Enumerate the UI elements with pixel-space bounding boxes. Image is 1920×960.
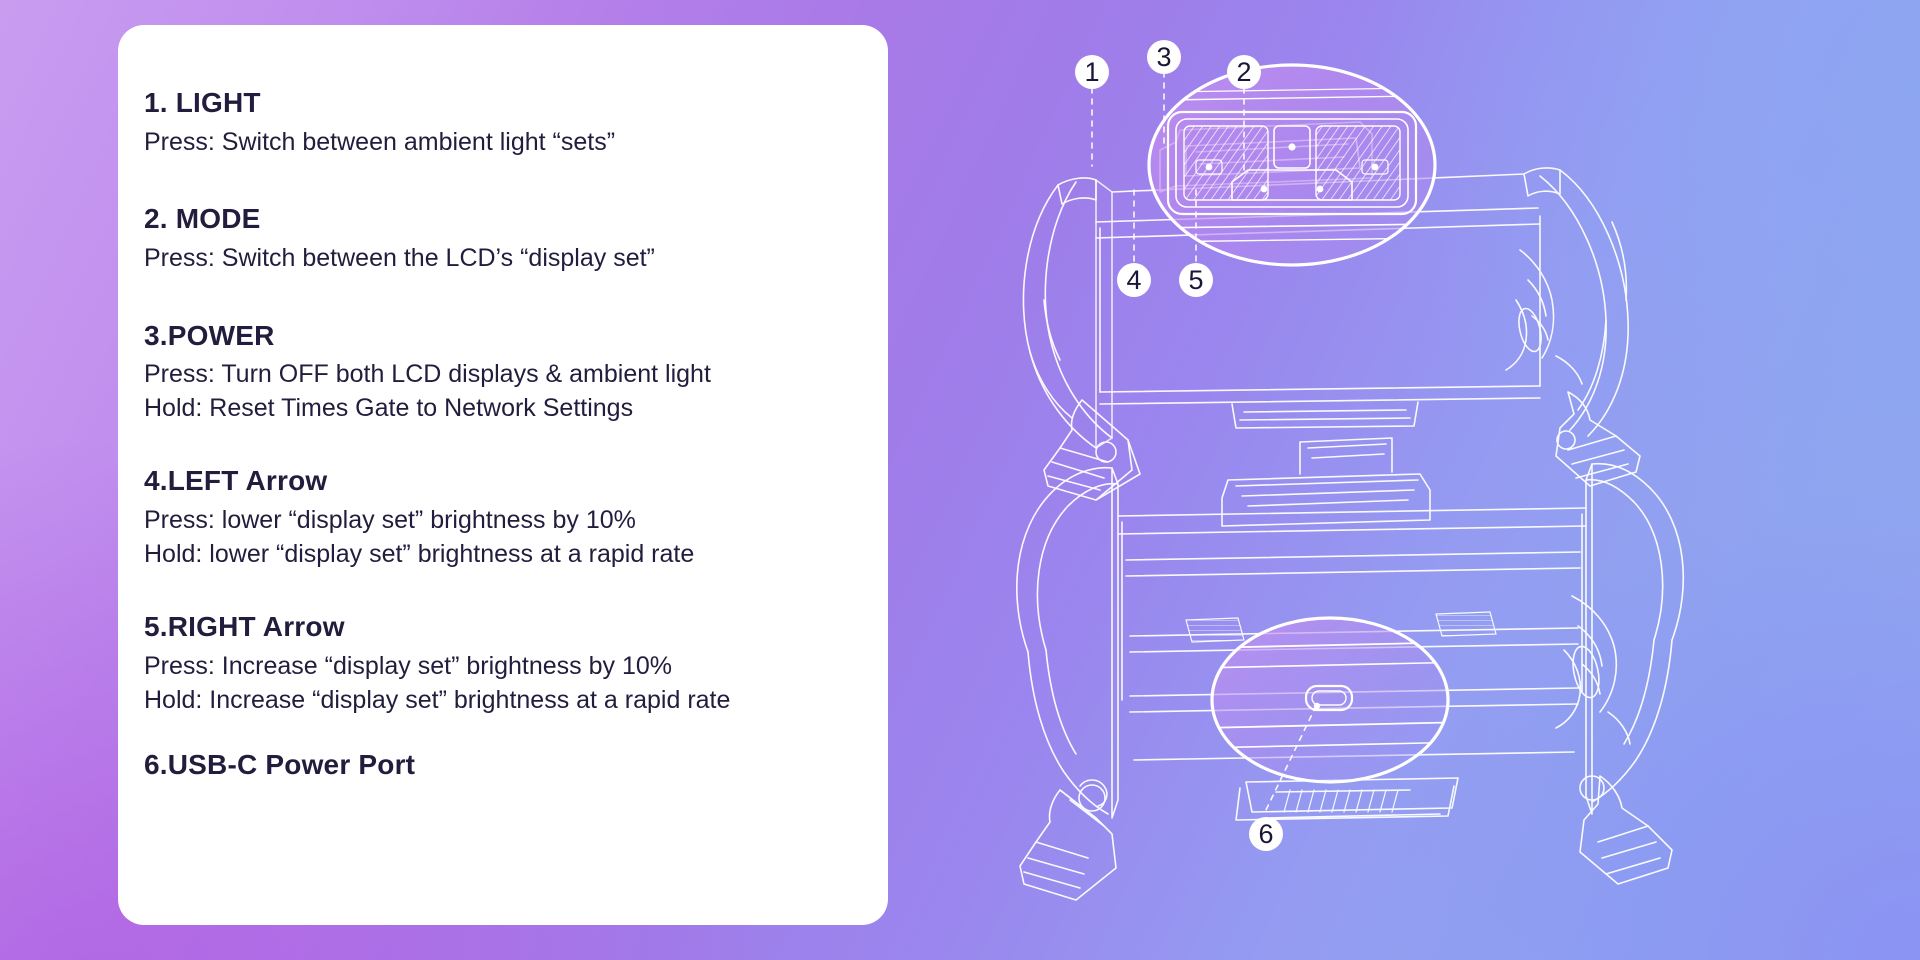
entry-title-usb-c-power-port: 6.USB-C Power Port [144,747,888,783]
entry-usb-c-power-port: 6.USB-C Power Port [144,747,888,783]
spacer [144,571,888,609]
callout-badge-3[interactable]: 3 [1147,40,1181,74]
spacer [144,159,888,201]
left-side-arm [1023,178,1140,500]
entry-mode: 2. MODE Press: Switch between the LCD’s … [144,201,888,275]
spacer [144,276,888,318]
callout-badge-2[interactable]: 2 [1227,55,1261,89]
entry-power: 3.POWER Press: Turn OFF both LCD display… [144,318,888,426]
callout-badge-5-label: 5 [1188,265,1203,295]
entry-line-mode-press: Press: Switch between the LCD’s “display… [144,242,888,276]
entry-line-left-arrow-hold: Hold: lower “display set” brightness at … [144,538,888,572]
product-guide-page: 1. LIGHT Press: Switch between ambient l… [0,0,1920,960]
callout-badge-2-label: 2 [1236,57,1251,87]
entry-title-left-arrow: 4.LEFT Arrow [144,463,888,499]
button-panel-magnifier [1149,65,1440,265]
right-side-arm [1506,168,1640,486]
spacer [144,717,888,747]
callout-badge-4-label: 4 [1126,265,1141,295]
entry-title-right-arrow: 5.RIGHT Arrow [144,609,888,645]
callout-badge-6[interactable]: 6 [1249,817,1283,851]
entry-light: 1. LIGHT Press: Switch between ambient l… [144,85,888,159]
callout-badge-1-label: 1 [1084,57,1099,87]
entry-line-light-press: Press: Switch between ambient light “set… [144,126,888,160]
spacer [144,425,888,463]
callout-badge-6-label: 6 [1258,819,1273,849]
entry-line-left-arrow-press: Press: lower “display set” brightness by… [144,504,888,538]
product-illustrations: 1 3 2 4 5 [1000,0,1920,960]
entry-line-power-hold: Hold: Reset Times Gate to Network Settin… [144,392,888,426]
entry-left-arrow: 4.LEFT Arrow Press: lower “display set” … [144,463,888,571]
entry-line-right-arrow-hold: Hold: Increase “display set” brightness … [144,684,888,718]
callout-badge-1[interactable]: 1 [1075,55,1109,89]
instructions-card: 1. LIGHT Press: Switch between ambient l… [118,25,888,925]
callout-badge-3-label: 3 [1156,42,1171,72]
entry-line-power-press: Press: Turn OFF both LCD displays & ambi… [144,358,888,392]
entry-title-mode: 2. MODE [144,201,888,237]
callout-badge-5[interactable]: 5 [1179,263,1213,297]
callout-badge-4[interactable]: 4 [1117,263,1151,297]
entry-line-right-arrow-press: Press: Increase “display set” brightness… [144,650,888,684]
entry-title-power: 3.POWER [144,318,888,354]
entry-right-arrow: 5.RIGHT Arrow Press: Increase “display s… [144,609,888,717]
entry-title-light: 1. LIGHT [144,85,888,121]
